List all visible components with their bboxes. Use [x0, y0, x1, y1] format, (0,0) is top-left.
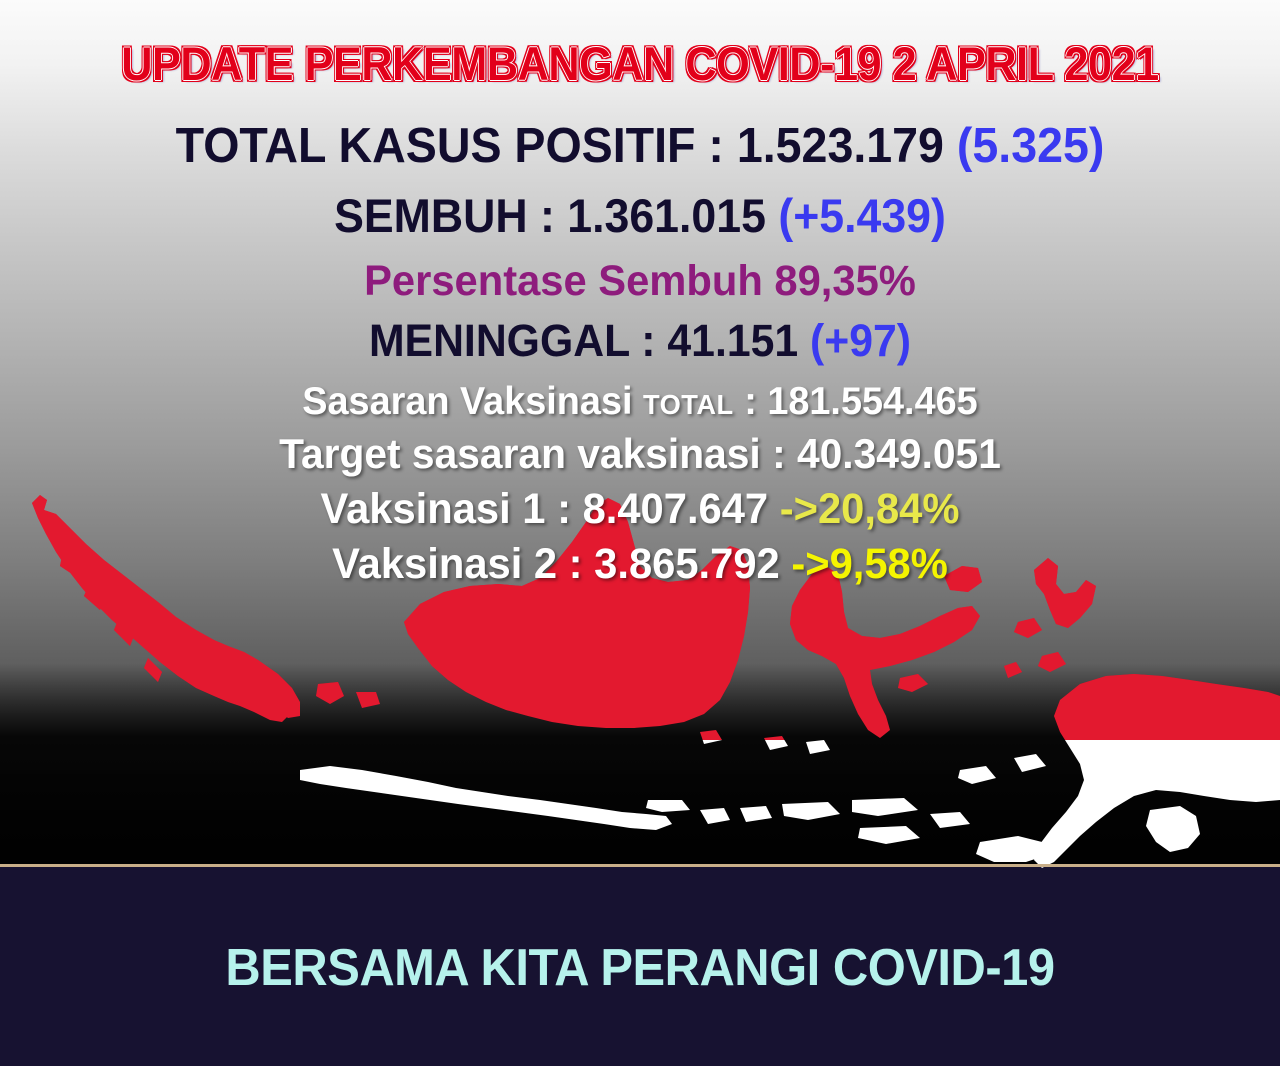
- map-flag-fill: [0, 470, 1280, 900]
- vaccination-row-dosis-2: Vaksinasi 2 : 3.865.792 ->9,58%: [19, 543, 1261, 586]
- meninggal-delta: (+97): [810, 315, 911, 366]
- vaccination-row-sasaran-total: Sasaran Vaksinasi TOTAL : 181.554.465: [19, 382, 1261, 421]
- sembuh-value: 1.361.015: [567, 189, 766, 242]
- dosis1-value: 8.407.647: [583, 485, 769, 533]
- target-value: 40.349.051: [797, 430, 1001, 477]
- banner-slogan: BERSAMA KITA PERANGI COVID-19: [38, 942, 1241, 994]
- map-dark-overlay: [0, 470, 1280, 900]
- bottom-banner: BERSAMA KITA PERANGI COVID-19: [0, 867, 1280, 1066]
- stat-row-positif: TOTAL KASUS POSITIF : 1.523.179 (5.325): [32, 122, 1248, 171]
- dosis1-label: Vaksinasi 1 :: [321, 485, 583, 533]
- dosis2-label: Vaksinasi 2 :: [332, 540, 594, 588]
- dosis2-percent: 9,58%: [830, 540, 948, 588]
- dosis1-arrow-icon: ->: [768, 485, 818, 533]
- page-title: UPDATE PERKEMBANGAN COVID-19 2 APRIL 202…: [51, 40, 1229, 87]
- positif-value: 1.523.179: [737, 119, 944, 173]
- sembuh-label: SEMBUH :: [334, 189, 567, 242]
- dosis2-value: 3.865.792: [594, 540, 780, 588]
- target-label: Target sasaran vaksinasi :: [279, 430, 797, 477]
- sembuh-delta: (+5.439): [778, 189, 946, 242]
- meninggal-label: MENINGGAL :: [369, 315, 667, 366]
- covid-update-poster: UPDATE PERKEMBANGAN COVID-19 2 APRIL 202…: [0, 0, 1280, 1066]
- meninggal-value: 41.151: [667, 315, 798, 366]
- dosis2-arrow-icon: ->: [780, 540, 830, 588]
- positif-delta: (5.325): [957, 119, 1105, 173]
- sasaran-label-total: TOTAL: [643, 389, 734, 420]
- map-flag-top: [0, 470, 1280, 900]
- sasaran-separator: :: [734, 380, 768, 423]
- dosis1-percent: 20,84%: [818, 485, 959, 533]
- vaccination-row-target: Target sasaran vaksinasi : 40.349.051: [19, 433, 1261, 475]
- stat-row-persentase-sembuh: Persentase Sembuh 89,35%: [19, 260, 1261, 303]
- stat-row-meninggal: MENINGGAL : 41.151 (+97): [32, 318, 1248, 363]
- vaccination-row-dosis-1: Vaksinasi 1 : 8.407.647 ->20,84%: [19, 488, 1261, 531]
- positif-label: TOTAL KASUS POSITIF :: [176, 119, 737, 173]
- persentase-sembuh-text: Persentase Sembuh 89,35%: [364, 257, 916, 305]
- indonesia-map: [0, 470, 1280, 900]
- stat-row-sembuh: SEMBUH : 1.361.015 (+5.439): [32, 192, 1248, 239]
- banner-map-tail: [0, 867, 1280, 900]
- sasaran-value: 181.554.465: [767, 380, 977, 423]
- sasaran-label: Sasaran Vaksinasi: [302, 380, 643, 423]
